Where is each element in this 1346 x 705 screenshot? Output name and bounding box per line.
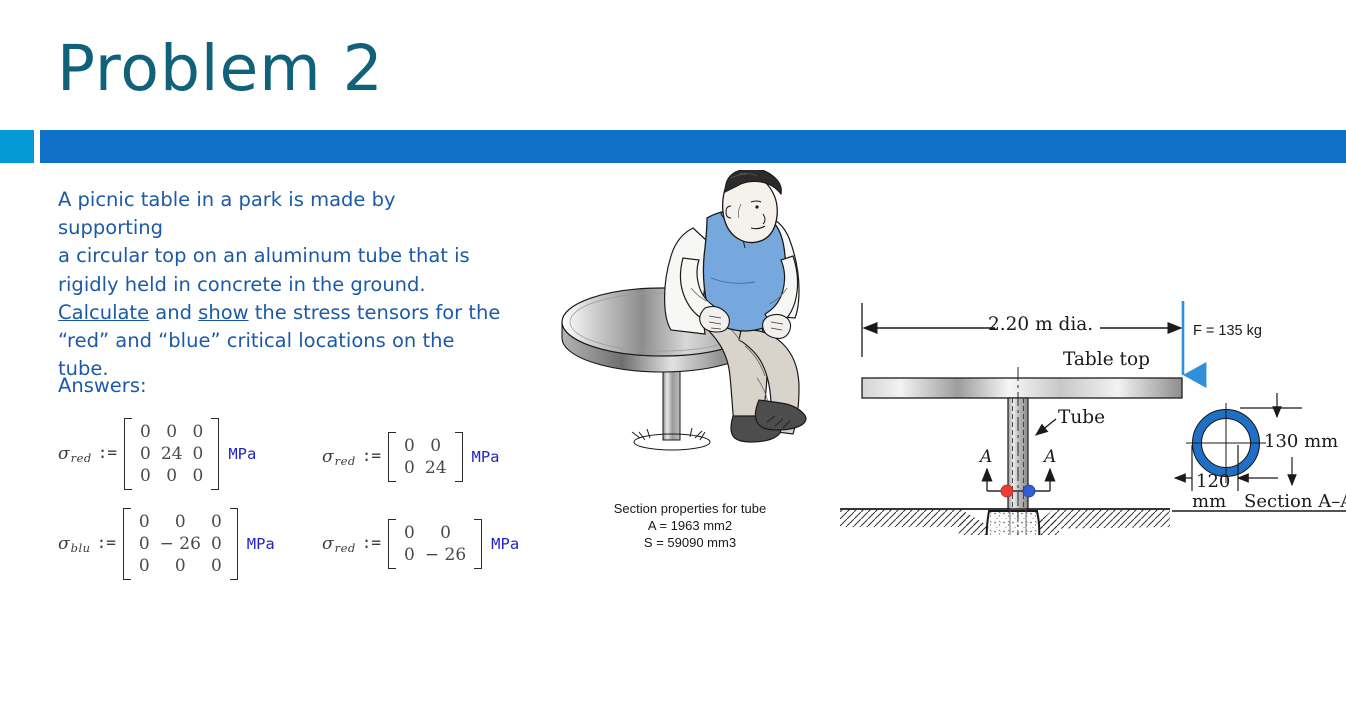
matrix-cell: 0 — [420, 522, 471, 544]
section-modulus-value: S = 59090 mm3 — [590, 534, 790, 551]
section-properties-note: Section properties for tube A = 1963 mm2… — [590, 500, 790, 551]
matrix-cell: 0 — [188, 443, 209, 465]
table-top-label: Table top — [1063, 349, 1150, 370]
force-label: F = 135 kg — [1193, 323, 1262, 339]
matrix-cell: 0 — [134, 511, 155, 533]
assign-operator: := — [362, 533, 381, 552]
red-critical-point — [1001, 485, 1013, 497]
matrix-cell: 0 — [155, 555, 206, 577]
dimension-label-diameter: 2.20 m dia. — [988, 314, 1093, 335]
page-title: Problem 2 — [57, 34, 384, 104]
matrix-table: 0 0 0 − 26 — [399, 522, 471, 566]
matrix-row: 0 0 — [399, 522, 471, 544]
matrix-cell: 0 — [156, 421, 188, 443]
matrix-row: 0 0 0 — [135, 465, 208, 487]
slide-root: Problem 2 A picnic table in a park is ma… — [0, 0, 1346, 705]
matrix-cell: 24 — [420, 457, 452, 479]
equation-symbol: σred — [322, 534, 356, 554]
equation-sigma-red-3x3: σred := 0 0 0 0 24 0 0 0 0 MPa — [58, 418, 256, 490]
sigma-subscript: red — [335, 454, 356, 468]
equation-symbol: σred — [58, 444, 92, 464]
section-mark-label-left: A — [980, 447, 992, 467]
assign-operator: := — [98, 443, 117, 462]
matrix-body: 0 0 0 − 26 — [388, 519, 482, 569]
equation-sigma-red-2x2: σred := 0 0 0 24 MPa — [322, 432, 500, 482]
matrix-cell: 24 — [156, 443, 188, 465]
blue-critical-point — [1023, 485, 1035, 497]
matrix-cell: 0 — [135, 465, 156, 487]
sigma-glyph: σ — [58, 444, 70, 464]
problem-statement: A picnic table in a park is made by supp… — [58, 186, 503, 383]
matrix-body: 0 0 0 0 − 26 0 0 0 0 — [123, 508, 238, 580]
sigma-subscript: red — [335, 541, 356, 555]
unit-label: MPa — [247, 535, 275, 553]
matrix-table: 0 0 0 24 — [399, 435, 451, 479]
equation-symbol: σred — [322, 447, 356, 467]
outer-diameter-label: 130 mm — [1264, 431, 1338, 452]
equation-sigma-red-2x2-negative: σred := 0 0 0 − 26 MPa — [322, 519, 519, 569]
section-mark-label-right: A — [1044, 447, 1056, 467]
conjunction-and: and — [149, 301, 198, 324]
matrix-cell: 0 — [420, 435, 452, 457]
tube-leader-line — [1036, 419, 1056, 435]
sigma-subscript: red — [71, 451, 92, 465]
matrix-body: 0 0 0 0 24 0 0 0 0 — [124, 418, 219, 490]
inner-diameter-value: 120 — [1196, 471, 1230, 492]
matrix-cell: 0 — [206, 555, 227, 577]
matrix-cell: 0 — [188, 465, 209, 487]
matrix-row: 0 0 0 — [134, 555, 227, 577]
matrix-cell: 0 — [134, 533, 155, 555]
matrix-cell: 0 — [156, 465, 188, 487]
matrix-cell: 0 — [155, 511, 206, 533]
picnic-table-illustration — [545, 170, 845, 510]
sigma-glyph: σ — [322, 447, 334, 467]
matrix-cell: 0 — [188, 421, 209, 443]
matrix-cell: − 26 — [420, 544, 471, 566]
section-caption: Section A–A — [1244, 491, 1346, 512]
matrix-row: 0 0 — [399, 435, 451, 457]
matrix-row: 0 − 26 — [399, 544, 471, 566]
statement-line-4-rest: the stress tensors for the — [249, 301, 501, 324]
concrete-footing — [987, 511, 1040, 535]
assign-operator: := — [362, 446, 381, 465]
statement-line-2: a circular top on an aluminum tube that … — [58, 244, 470, 267]
matrix-row: 0 24 — [399, 457, 451, 479]
matrix-row: 0 24 0 — [135, 443, 208, 465]
matrix-cell: 0 — [134, 555, 155, 577]
show-emphasis: show — [198, 301, 248, 324]
statement-line-3: rigidly held in concrete in the ground. — [58, 273, 426, 296]
matrix-table: 0 0 0 0 − 26 0 0 0 0 — [134, 511, 227, 577]
statement-line-1: A picnic table in a park is made by supp… — [58, 188, 396, 239]
sigma-glyph: σ — [58, 534, 70, 554]
section-properties-title: Section properties for tube — [590, 500, 790, 517]
assign-operator: := — [97, 533, 116, 552]
matrix-cell: 0 — [399, 544, 420, 566]
sigma-glyph: σ — [322, 534, 334, 554]
matrix-row: 0 0 0 — [134, 511, 227, 533]
matrix-cell: 0 — [135, 421, 156, 443]
sigma-subscript: blu — [71, 541, 91, 555]
equation-symbol: σblu — [58, 534, 91, 554]
matrix-body: 0 0 0 24 — [388, 432, 462, 482]
matrix-cell: 0 — [399, 522, 420, 544]
matrix-cell: 0 — [135, 443, 156, 465]
unit-label: MPa — [472, 448, 500, 466]
matrix-cell: 0 — [399, 457, 420, 479]
engineering-diagram: 2.20 m dia. Table top F = 135 kg Tube A … — [840, 295, 1346, 535]
answers-label: Answers: — [58, 372, 147, 400]
tube-label: Tube — [1058, 407, 1105, 428]
matrix-row: 0 − 26 0 — [134, 533, 227, 555]
matrix-cell: 0 — [399, 435, 420, 457]
matrix-cell: 0 — [206, 533, 227, 555]
matrix-cell: − 26 — [155, 533, 206, 555]
statement-line-5: “red” and “blue” critical locations on t… — [58, 329, 454, 352]
section-area-value: A = 1963 mm2 — [590, 517, 790, 534]
man-on-table-drawing — [545, 170, 845, 510]
calculate-emphasis: Calculate — [58, 301, 149, 324]
matrix-cell: 0 — [206, 511, 227, 533]
equation-sigma-blu-3x3: σblu := 0 0 0 0 − 26 0 0 0 0 MPa — [58, 508, 275, 580]
unit-label: MPa — [228, 445, 256, 463]
matrix-table: 0 0 0 0 24 0 0 0 0 — [135, 421, 208, 487]
inner-diameter-unit: mm — [1192, 491, 1226, 512]
table-top-plate — [862, 378, 1182, 398]
matrix-row: 0 0 0 — [135, 421, 208, 443]
unit-label: MPa — [491, 535, 519, 553]
title-divider-bar — [40, 130, 1346, 163]
title-accent-square — [0, 130, 34, 163]
